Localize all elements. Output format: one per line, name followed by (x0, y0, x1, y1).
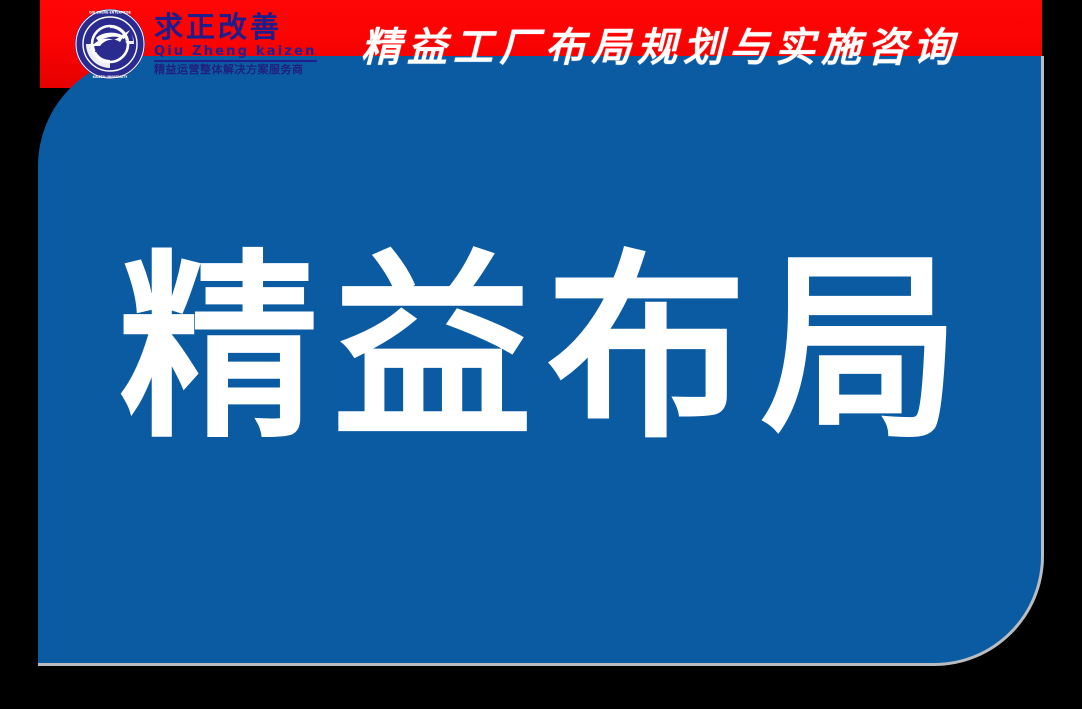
header-title: 精益工厂布局规划与实施咨询 (310, 0, 1010, 88)
slide-title: 精益布局 (118, 250, 974, 450)
company-logo: QIU ZHENG ENTERPRISE KAIZEN UNIVERSITY 求… (38, 2, 278, 86)
slide-canvas: QIU ZHENG ENTERPRISE KAIZEN UNIVERSITY 求… (0, 0, 1082, 709)
logo-wordmark: 求正改善 Qiu Zheng kaizen 精益运营整体解决方案服务商 (154, 13, 317, 75)
logo-company-name-cn: 求正改善 (154, 13, 317, 42)
logo-tagline: 精益运营整体解决方案服务商 (154, 64, 317, 75)
content-panel: 精益布局 (38, 56, 1044, 666)
logo-company-name-pinyin: Qiu Zheng kaizen (154, 45, 317, 58)
svg-text:KAIZEN UNIVERSITY: KAIZEN UNIVERSITY (93, 75, 129, 79)
logo-divider (154, 60, 317, 62)
svg-text:QIU ZHENG ENTERPRISE: QIU ZHENG ENTERPRISE (89, 11, 131, 15)
header-title-text: 精益工厂布局规划与实施咨询 (361, 15, 959, 73)
circular-emblem-swoosh-icon: QIU ZHENG ENTERPRISE KAIZEN UNIVERSITY (74, 8, 146, 80)
